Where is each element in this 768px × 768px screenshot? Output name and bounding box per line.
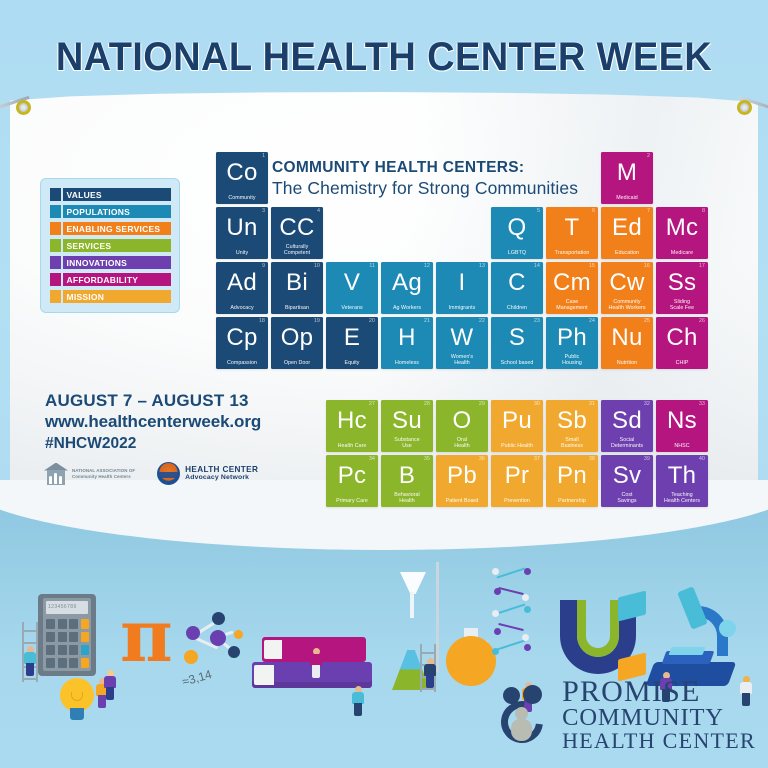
element-symbol: Hc (326, 408, 378, 434)
periodic-cell: 17SsSliding Scale Fee (656, 262, 708, 314)
calculator-illustration (38, 594, 96, 676)
element-name: Prevention (493, 498, 541, 504)
element-tile-pc[interactable]: 34PcPrimary Care (326, 455, 378, 507)
page-title: NATIONAL HEALTH CENTER WEEK (19, 34, 749, 80)
lab-apparatus-illustration (386, 562, 496, 690)
periodic-cell-empty (436, 207, 488, 259)
element-symbol: M (601, 160, 653, 186)
periodic-row: 34PcPrimary Care35BBehavioral Health36Pb… (326, 455, 708, 507)
element-symbol: V (326, 270, 378, 296)
element-number: 10 (314, 263, 320, 270)
element-tile-su[interactable]: 28SuSubstance Use (381, 400, 433, 452)
element-tile-mc[interactable]: 8McMedicare (656, 207, 708, 259)
element-name: Equity (328, 360, 376, 366)
periodic-cell: 31SbSmall Business (546, 400, 598, 452)
element-number: 28 (424, 401, 430, 408)
element-symbol: Ch (656, 325, 708, 351)
element-name: Teaching Health Centers (658, 492, 706, 504)
element-symbol: Pu (491, 408, 543, 434)
periodic-cell: 26ChCHIP (656, 317, 708, 369)
event-url[interactable]: www.healthcenterweek.org (45, 411, 261, 433)
periodic-cell: 21HHomeless (381, 317, 433, 369)
periodic-row: 9AdAdvocacy10BiBipartisan11VVeterans12Ag… (216, 262, 708, 314)
element-number: 32 (644, 401, 650, 408)
periodic-cell: 30PuPublic Health (491, 400, 543, 452)
element-symbol: Ag (381, 270, 433, 296)
element-number: 26 (699, 318, 705, 325)
legend-item-label: ENABLING SERVICES (63, 222, 172, 235)
partner-logos: NATIONAL ASSOCIATION OF Community Health… (44, 462, 258, 485)
element-tile-sv[interactable]: 39SvCost Savings (601, 455, 653, 507)
lightbulb-illustration (60, 678, 94, 722)
event-details: AUGUST 7 – AUGUST 13 www.healthcenterwee… (45, 390, 261, 454)
element-number: 31 (589, 401, 595, 408)
periodic-cell: 24PhPublic Housing (546, 317, 598, 369)
molecule-illustration (178, 608, 248, 670)
periodic-cell: 40ThTeaching Health Centers (656, 455, 708, 507)
element-symbol: Q (491, 215, 543, 241)
element-number: 37 (534, 456, 540, 463)
periodic-cell: 33NsNHSC (656, 400, 708, 452)
element-symbol: Ns (656, 408, 708, 434)
periodic-cell: 4CCCulturally Competent (271, 207, 323, 259)
periodic-cell: 19OpOpen Door (271, 317, 323, 369)
element-tile-nu[interactable]: 25NuNutrition (601, 317, 653, 369)
element-number: 11 (369, 263, 375, 270)
promise-family-icon (501, 685, 553, 745)
element-name: Veterans (328, 305, 376, 311)
element-symbol: Pb (436, 463, 488, 489)
element-number: 33 (699, 401, 705, 408)
periodic-cell-empty (326, 207, 378, 259)
periodic-cell: 14CChildren (491, 262, 543, 314)
element-symbol: CC (271, 215, 323, 241)
legend-panel: VALUESPOPULATIONSENABLING SERVICESSERVIC… (40, 178, 180, 313)
element-name: Education (603, 250, 651, 256)
dna-helix-illustration (490, 566, 538, 676)
element-name: Primary Care (328, 498, 376, 504)
periodic-cell: 39SvCost Savings (601, 455, 653, 507)
periodic-cell: 32SdSocial Determinants (601, 400, 653, 452)
element-name: Children (493, 305, 541, 311)
element-tile-ss[interactable]: 17SsSliding Scale Fee (656, 262, 708, 314)
hcan-logo: HEALTH CENTER Advocacy Network (157, 462, 258, 485)
element-number: 30 (534, 401, 540, 408)
legend-item-mission: MISSION (50, 290, 171, 303)
element-name: Homeless (383, 360, 431, 366)
element-symbol: Co (216, 160, 268, 186)
legend-color-chip (50, 239, 61, 252)
periodic-cell: 9AdAdvocacy (216, 262, 268, 314)
periodic-cell: 36PbPatient Board (436, 455, 488, 507)
event-hashtag: #NHCW2022 (45, 433, 261, 454)
promise-logo-line2: COMMUNITY (562, 706, 756, 730)
element-name: Transportation (548, 250, 596, 256)
element-symbol: Ed (601, 215, 653, 241)
element-symbol: Cw (601, 270, 653, 296)
element-number: 13 (479, 263, 485, 270)
element-number: 20 (369, 318, 375, 325)
element-name: LGBTQ (493, 250, 541, 256)
periodic-cell: 12AgAg Workers (381, 262, 433, 314)
promise-logo-text: PROMISE COMMUNITY HEALTH CENTER (562, 677, 756, 752)
element-symbol: S (491, 325, 543, 351)
element-symbol: E (326, 325, 378, 351)
element-number: 38 (589, 456, 595, 463)
element-number: 4 (317, 208, 320, 215)
legend-item-innovations: INNOVATIONS (50, 256, 171, 269)
element-tile-e[interactable]: 20EEquity (326, 317, 378, 369)
element-tile-ns[interactable]: 33NsNHSC (656, 400, 708, 452)
periodic-cell: 6TTransportation (546, 207, 598, 259)
element-number: 7 (647, 208, 650, 215)
periodic-cell: 23SSchool based (491, 317, 543, 369)
legend-color-chip (50, 188, 61, 201)
periodic-row: 18CpCompassion19OpOpen Door20EEquity21HH… (216, 317, 708, 369)
element-number: 29 (479, 401, 485, 408)
legend-item-services: SERVICES (50, 239, 171, 252)
periodic-cell: 18CpCompassion (216, 317, 268, 369)
element-tile-b[interactable]: 35BBehavioral Health (381, 455, 433, 507)
element-number: 1 (262, 153, 265, 160)
element-name: Public Health (493, 443, 541, 449)
legend-item-label: MISSION (63, 290, 172, 303)
element-name: Public Housing (548, 354, 596, 366)
element-symbol: Mc (656, 215, 708, 241)
element-tile-ch[interactable]: 26ChCHIP (656, 317, 708, 369)
legend-color-chip (50, 256, 61, 269)
element-symbol: Sd (601, 408, 653, 434)
element-tile-v[interactable]: 11VVeterans (326, 262, 378, 314)
element-tile-ph[interactable]: 24PhPublic Housing (546, 317, 598, 369)
hcan-logo-line2: Advocacy Network (185, 474, 258, 483)
periodic-cell: 37PrPrevention (491, 455, 543, 507)
element-symbol: W (436, 325, 488, 351)
element-symbol: B (381, 463, 433, 489)
legend-color-chip (50, 222, 61, 235)
promise-community-health-center-logo: PROMISE COMMUNITY HEALTH CENTER (501, 677, 756, 752)
nachc-logo: NATIONAL ASSOCIATION OF Community Health… (44, 463, 135, 485)
element-tile-sb[interactable]: 31SbSmall Business (546, 400, 598, 452)
periodic-cell: 35BBehavioral Health (381, 455, 433, 507)
element-name: Ag Workers (383, 305, 431, 311)
element-number: 36 (479, 456, 485, 463)
element-symbol: Ad (216, 270, 268, 296)
element-number: 27 (369, 401, 375, 408)
element-name: Bipartisan (273, 305, 321, 311)
grommet-top-left (16, 100, 31, 115)
periodic-cell: 10BiBipartisan (271, 262, 323, 314)
element-name: Cost Savings (603, 492, 651, 504)
element-tile-cm[interactable]: 15CmCase Management (546, 262, 598, 314)
element-number: 21 (424, 318, 430, 325)
element-symbol: H (381, 325, 433, 351)
element-tile-m[interactable]: 2MMedicaid (601, 152, 653, 204)
legend-item-label: INNOVATIONS (63, 256, 172, 269)
element-number: 24 (589, 318, 595, 325)
table-title-line1: COMMUNITY HEALTH CENTERS: (272, 158, 578, 177)
element-name: Advocacy (218, 305, 266, 311)
element-name: Immigrants (438, 305, 486, 311)
element-number: 6 (592, 208, 595, 215)
element-symbol: Cm (546, 270, 598, 296)
promise-logo-line1: PROMISE (562, 677, 756, 706)
element-name: Medicaid (603, 195, 651, 201)
promise-logo-line3: HEALTH CENTER (562, 730, 756, 752)
element-symbol: Sb (546, 408, 598, 434)
element-number: 3 (262, 208, 265, 215)
element-tile-w[interactable]: 22WWomen's Health (436, 317, 488, 369)
element-symbol: Cp (216, 325, 268, 351)
element-tile-ad[interactable]: 9AdAdvocacy (216, 262, 268, 314)
element-name: Behavioral Health (383, 492, 431, 504)
periodic-table: 1CoCommunity2MMedicaid3UnUnity4CCCultura… (216, 152, 708, 510)
element-tile-un[interactable]: 3UnUnity (216, 207, 268, 259)
element-tile-co[interactable]: 1CoCommunity (216, 152, 268, 204)
periodic-row: 3UnUnity4CCCulturally Competent5QLGBTQ6T… (216, 207, 708, 259)
element-tile-ed[interactable]: 7EdEducation (601, 207, 653, 259)
hcan-logo-line1: HEALTH CENTER (185, 465, 258, 475)
element-name: School based (493, 360, 541, 366)
grommet-top-right (737, 100, 752, 115)
element-name: Culturally Competent (273, 244, 321, 256)
element-number: 9 (262, 263, 265, 270)
element-symbol: Pc (326, 463, 378, 489)
periodic-cell-empty (381, 207, 433, 259)
periodic-cell: 16CwCommunity Health Workers (601, 262, 653, 314)
legend-color-chip (50, 273, 61, 286)
element-tile-pn[interactable]: 38PnPartnership (546, 455, 598, 507)
element-tile-c[interactable]: 14CChildren (491, 262, 543, 314)
periodic-cell: 29OOral Health (436, 400, 488, 452)
element-number: 25 (644, 318, 650, 325)
element-number: 18 (259, 318, 265, 325)
element-name: Case Management (548, 299, 596, 311)
element-name: Health Care (328, 443, 376, 449)
element-name: Community Health Workers (603, 299, 651, 311)
element-name: Women's Health (438, 354, 486, 366)
element-name: Substance Use (383, 437, 431, 449)
element-symbol: Su (381, 408, 433, 434)
legend-item-label: VALUES (63, 188, 172, 201)
element-tile-pu[interactable]: 30PuPublic Health (491, 400, 543, 452)
element-number: 23 (534, 318, 540, 325)
element-tile-ag[interactable]: 12AgAg Workers (381, 262, 433, 314)
periodic-cell: 15CmCase Management (546, 262, 598, 314)
element-name: Community (218, 195, 266, 201)
element-tile-s[interactable]: 23SSchool based (491, 317, 543, 369)
element-tile-sd[interactable]: 32SdSocial Determinants (601, 400, 653, 452)
element-number: 40 (699, 456, 705, 463)
periodic-cell: 38PnPartnership (546, 455, 598, 507)
element-tile-cc[interactable]: 4CCCulturally Competent (271, 207, 323, 259)
element-tile-pb[interactable]: 36PbPatient Board (436, 455, 488, 507)
periodic-cell: 5QLGBTQ (491, 207, 543, 259)
legend-color-chip (50, 290, 61, 303)
element-symbol: C (491, 270, 543, 296)
periodic-cell: 34PcPrimary Care (326, 455, 378, 507)
periodic-cell: 22WWomen's Health (436, 317, 488, 369)
periodic-cell: 1CoCommunity (216, 152, 268, 204)
table-title-line2: The Chemistry for Strong Communities (272, 177, 578, 199)
element-number: 2 (647, 153, 650, 160)
hcan-seal-icon (157, 462, 180, 485)
element-symbol: Nu (601, 325, 653, 351)
element-tile-q[interactable]: 5QLGBTQ (491, 207, 543, 259)
periodic-cell: 27HcHealth Care (326, 400, 378, 452)
element-number: 34 (369, 456, 375, 463)
element-symbol: Sv (601, 463, 653, 489)
microscope-illustration (650, 586, 742, 686)
element-tile-h[interactable]: 21HHomeless (381, 317, 433, 369)
element-number: 35 (424, 456, 430, 463)
legend-item-enabling-services: ENABLING SERVICES (50, 222, 171, 235)
element-symbol: I (436, 270, 488, 296)
periodic-cell: 25NuNutrition (601, 317, 653, 369)
element-symbol: O (436, 408, 488, 434)
nachc-logo-text: NATIONAL ASSOCIATION OF Community Health… (72, 468, 135, 479)
element-number: 19 (314, 318, 320, 325)
pi-glyph: π (120, 593, 173, 678)
element-name: Sliding Scale Fee (658, 299, 706, 311)
periodic-cell: 13IImmigrants (436, 262, 488, 314)
periodic-bottom-block: 27HcHealth Care28SuSubstance Use29OOral … (326, 400, 708, 507)
element-name: Compassion (218, 360, 266, 366)
element-symbol: Pn (546, 463, 598, 489)
periodic-cell: 3UnUnity (216, 207, 268, 259)
periodic-cell: 11VVeterans (326, 262, 378, 314)
element-name: Oral Health (438, 437, 486, 449)
element-name: Social Determinants (603, 437, 651, 449)
periodic-cell: 2MMedicaid (601, 152, 653, 204)
pi-symbol-illustration: π ≈3,14 (120, 600, 173, 672)
element-symbol: Un (216, 215, 268, 241)
element-number: 39 (644, 456, 650, 463)
nachc-house-icon (44, 463, 68, 485)
element-tile-i[interactable]: 13IImmigrants (436, 262, 488, 314)
element-tile-o[interactable]: 29OOral Health (436, 400, 488, 452)
element-tile-op[interactable]: 19OpOpen Door (271, 317, 323, 369)
element-number: 5 (537, 208, 540, 215)
periodic-cell: 28SuSubstance Use (381, 400, 433, 452)
periodic-cell: 7EdEducation (601, 207, 653, 259)
element-name: Small Business (548, 437, 596, 449)
legend-item-label: POPULATIONS (63, 205, 172, 218)
element-tile-th[interactable]: 40ThTeaching Health Centers (656, 455, 708, 507)
legend-item-values: VALUES (50, 188, 171, 201)
event-dates: AUGUST 7 – AUGUST 13 (45, 390, 261, 411)
element-name: CHIP (658, 360, 706, 366)
element-name: Medicare (658, 250, 706, 256)
element-symbol: Ph (546, 325, 598, 351)
periodic-block-gap (216, 372, 708, 400)
element-name: Open Door (273, 360, 321, 366)
element-number: 12 (424, 263, 430, 270)
element-tile-t[interactable]: 6TTransportation (546, 207, 598, 259)
magnet-illustration (556, 594, 652, 680)
element-number: 14 (534, 263, 540, 270)
element-tile-pr[interactable]: 37PrPrevention (491, 455, 543, 507)
legend-item-affordability: AFFORDABILITY (50, 273, 171, 286)
element-symbol: T (546, 215, 598, 241)
legend-item-label: AFFORDABILITY (63, 273, 172, 286)
element-symbol: Bi (271, 270, 323, 296)
element-tile-cw[interactable]: 16CwCommunity Health Workers (601, 262, 653, 314)
element-symbol: Th (656, 463, 708, 489)
legend-color-chip (50, 205, 61, 218)
element-number: 8 (702, 208, 705, 215)
element-symbol: Op (271, 325, 323, 351)
periodic-row: 27HcHealth Care28SuSubstance Use29OOral … (326, 400, 708, 452)
periodic-cell: 8McMedicare (656, 207, 708, 259)
element-symbol: Ss (656, 270, 708, 296)
periodic-cell: 20EEquity (326, 317, 378, 369)
element-number: 22 (479, 318, 485, 325)
element-name: Patient Board (438, 498, 486, 504)
legend-item-label: SERVICES (63, 239, 172, 252)
element-tile-hc[interactable]: 27HcHealth Care (326, 400, 378, 452)
table-title: COMMUNITY HEALTH CENTERS: The Chemistry … (272, 158, 578, 199)
element-tile-cp[interactable]: 18CpCompassion (216, 317, 268, 369)
element-number: 17 (699, 263, 705, 270)
legend-item-populations: POPULATIONS (50, 205, 171, 218)
element-symbol: Pr (491, 463, 543, 489)
element-name: Unity (218, 250, 266, 256)
element-name: Nutrition (603, 360, 651, 366)
element-tile-bi[interactable]: 10BiBipartisan (271, 262, 323, 314)
element-name: NHSC (658, 443, 706, 449)
element-name: Partnership (548, 498, 596, 504)
